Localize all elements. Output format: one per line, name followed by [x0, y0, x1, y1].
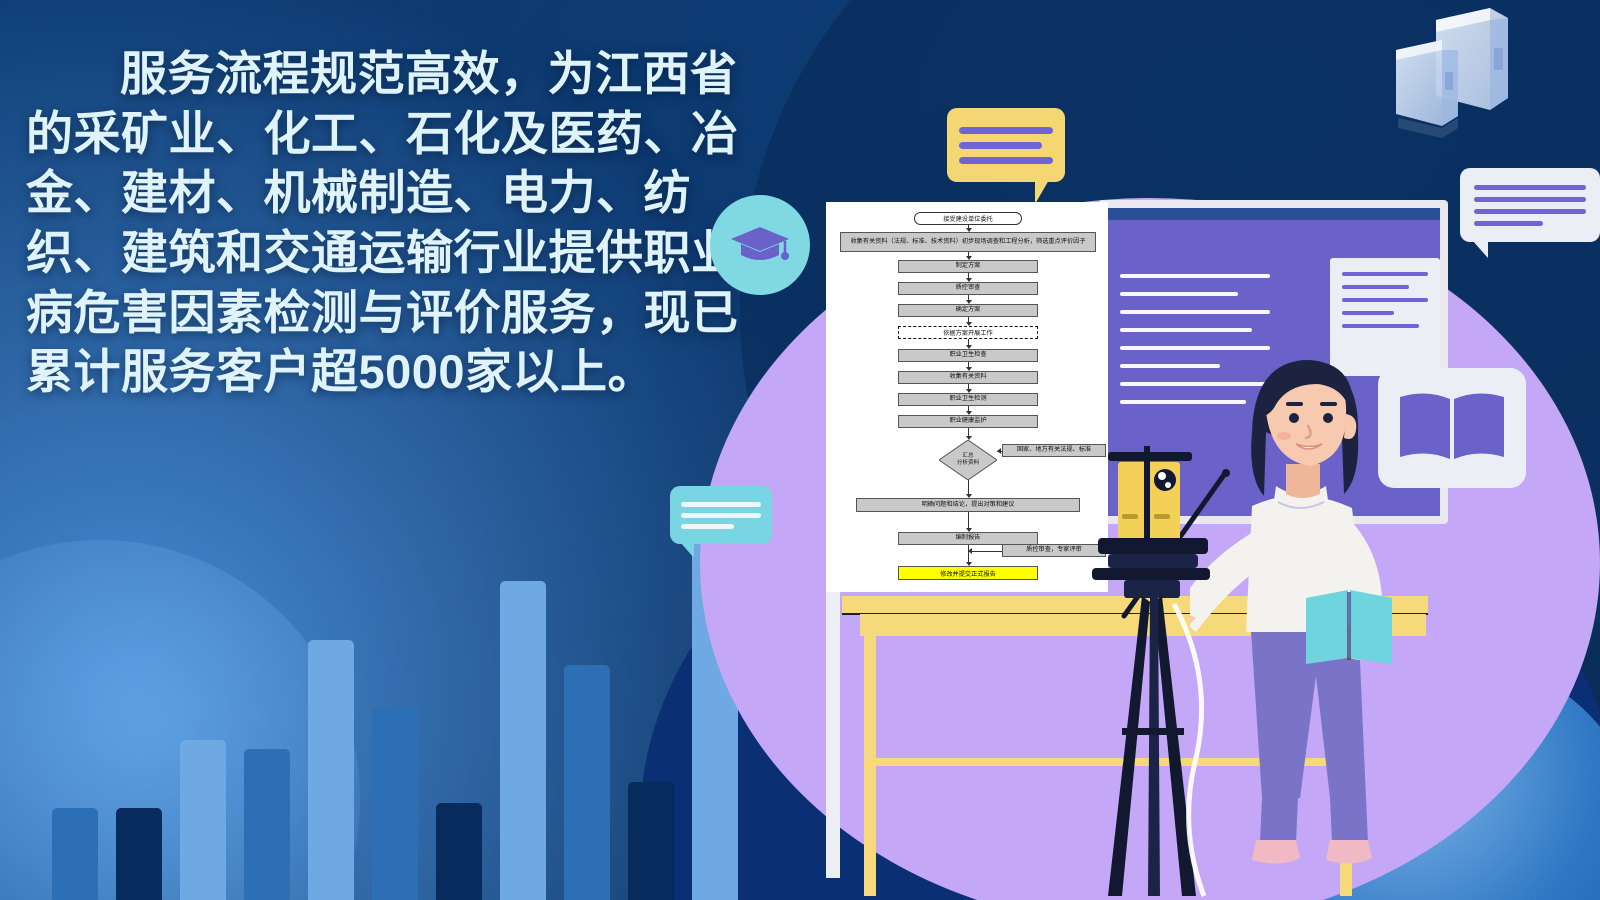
bubble-line: [959, 142, 1042, 149]
bubble-tail: [680, 542, 694, 558]
flow-node-n14: 修改并提交正式报告: [898, 566, 1038, 580]
whiteboard-top-rail: [1106, 208, 1440, 220]
flow-arrow-head: [966, 345, 972, 349]
speech-bubble-yellow: [947, 108, 1065, 182]
bubble-line: [681, 524, 734, 529]
flow-node-n5: 确定方案: [898, 304, 1038, 317]
stacked-books-icon: [1378, 6, 1528, 166]
flow-arrow-head: [966, 436, 972, 440]
bubble-line: [681, 502, 761, 507]
bubble-line: [1474, 209, 1586, 214]
headline-text: 服务流程规范高效，为江西省的采矿业、化工、石化及医药、冶金、建材、机械制造、电力…: [26, 44, 766, 402]
flow-arrow-head: [966, 494, 972, 498]
bubble-line: [681, 513, 761, 518]
flow-node-n8: 收集有关资料: [898, 371, 1038, 384]
flow-arrow: [968, 480, 969, 494]
bubble-line: [959, 127, 1053, 134]
speech-bubble-cyan: [670, 486, 772, 544]
flow-arrow-head: [966, 278, 972, 282]
whiteboard-stand-post: [826, 592, 840, 878]
flow-node-n1: 接受建设单位委托: [914, 212, 1022, 225]
bar-b5: [308, 640, 354, 900]
flow-arrow-head: [966, 562, 972, 566]
graduation-cap-badge: [710, 195, 810, 295]
flow-arrow-head: [966, 528, 972, 532]
flow-node-n7: 职业卫生检查: [898, 349, 1038, 362]
flow-node-n11: 汇总分析资料: [939, 440, 997, 480]
bar-b6: [372, 707, 418, 900]
flow-node-n10: 职业健康监护: [898, 415, 1038, 428]
flow-arrow-head: [966, 228, 972, 232]
flow-arrow-head: [966, 411, 972, 415]
flow-arrow-head: [966, 300, 972, 304]
flow-arrow-head: [966, 389, 972, 393]
flow-arrow-head: [966, 367, 972, 371]
bubble-line: [1474, 185, 1586, 190]
graduation-cap-icon: [729, 223, 791, 267]
flow-arrow-head: [966, 322, 972, 326]
bubble-line: [1474, 221, 1543, 226]
flow-node-n9: 职业卫生检测: [898, 393, 1038, 406]
flow-arrow-head: [997, 448, 1001, 454]
instructor-presenting-flowchart: 接受建设单位委托收集有关资料（法规、标准、技术资料）初步现场调查和工程分析，筛选…: [820, 196, 1460, 900]
flow-node-n2: 收集有关资料（法规、标准、技术资料）初步现场调查和工程分析，筛选重点评价因子: [840, 232, 1096, 252]
bar-b10: [628, 782, 674, 900]
flow-node-label: 汇总分析资料: [939, 440, 997, 480]
bar-b2: [116, 808, 162, 900]
bar-b8: [500, 581, 546, 900]
desk-leg-left: [864, 636, 876, 896]
bubble-tail: [1472, 240, 1488, 258]
flow-node-n4: 质控审查: [898, 282, 1038, 295]
flow-arrow: [968, 428, 969, 436]
bar-b9: [564, 665, 610, 900]
poster-canvas: 服务流程规范高效，为江西省的采矿业、化工、石化及医药、冶金、建材、机械制造、电力…: [0, 0, 1600, 900]
bar-b4: [244, 749, 290, 900]
flow-arrow: [968, 551, 1002, 552]
flow-arrow: [968, 512, 969, 528]
bar-b1: [52, 808, 98, 900]
decorative-bar-chart: [0, 480, 780, 900]
flowchart-whiteboard: 接受建设单位委托收集有关资料（法规、标准、技术资料）初步现场调查和工程分析，筛选…: [826, 202, 1108, 592]
flow-node-n12: 明确问题和结论，提出对策和建议: [856, 498, 1080, 512]
flow-node-n6: 依据方案开展工作: [898, 326, 1038, 339]
flow-arrow-head: [966, 256, 972, 260]
speech-bubble-white: [1460, 168, 1600, 242]
sampling-instrument-on-tripod: [1078, 428, 1228, 898]
flow-arrow-head: [968, 548, 972, 554]
flow-node-n3: 制定方案: [898, 260, 1038, 273]
bar-b7: [436, 803, 482, 900]
bubble-line: [1474, 197, 1586, 202]
bubble-line: [959, 157, 1053, 164]
bar-b3: [180, 740, 226, 900]
